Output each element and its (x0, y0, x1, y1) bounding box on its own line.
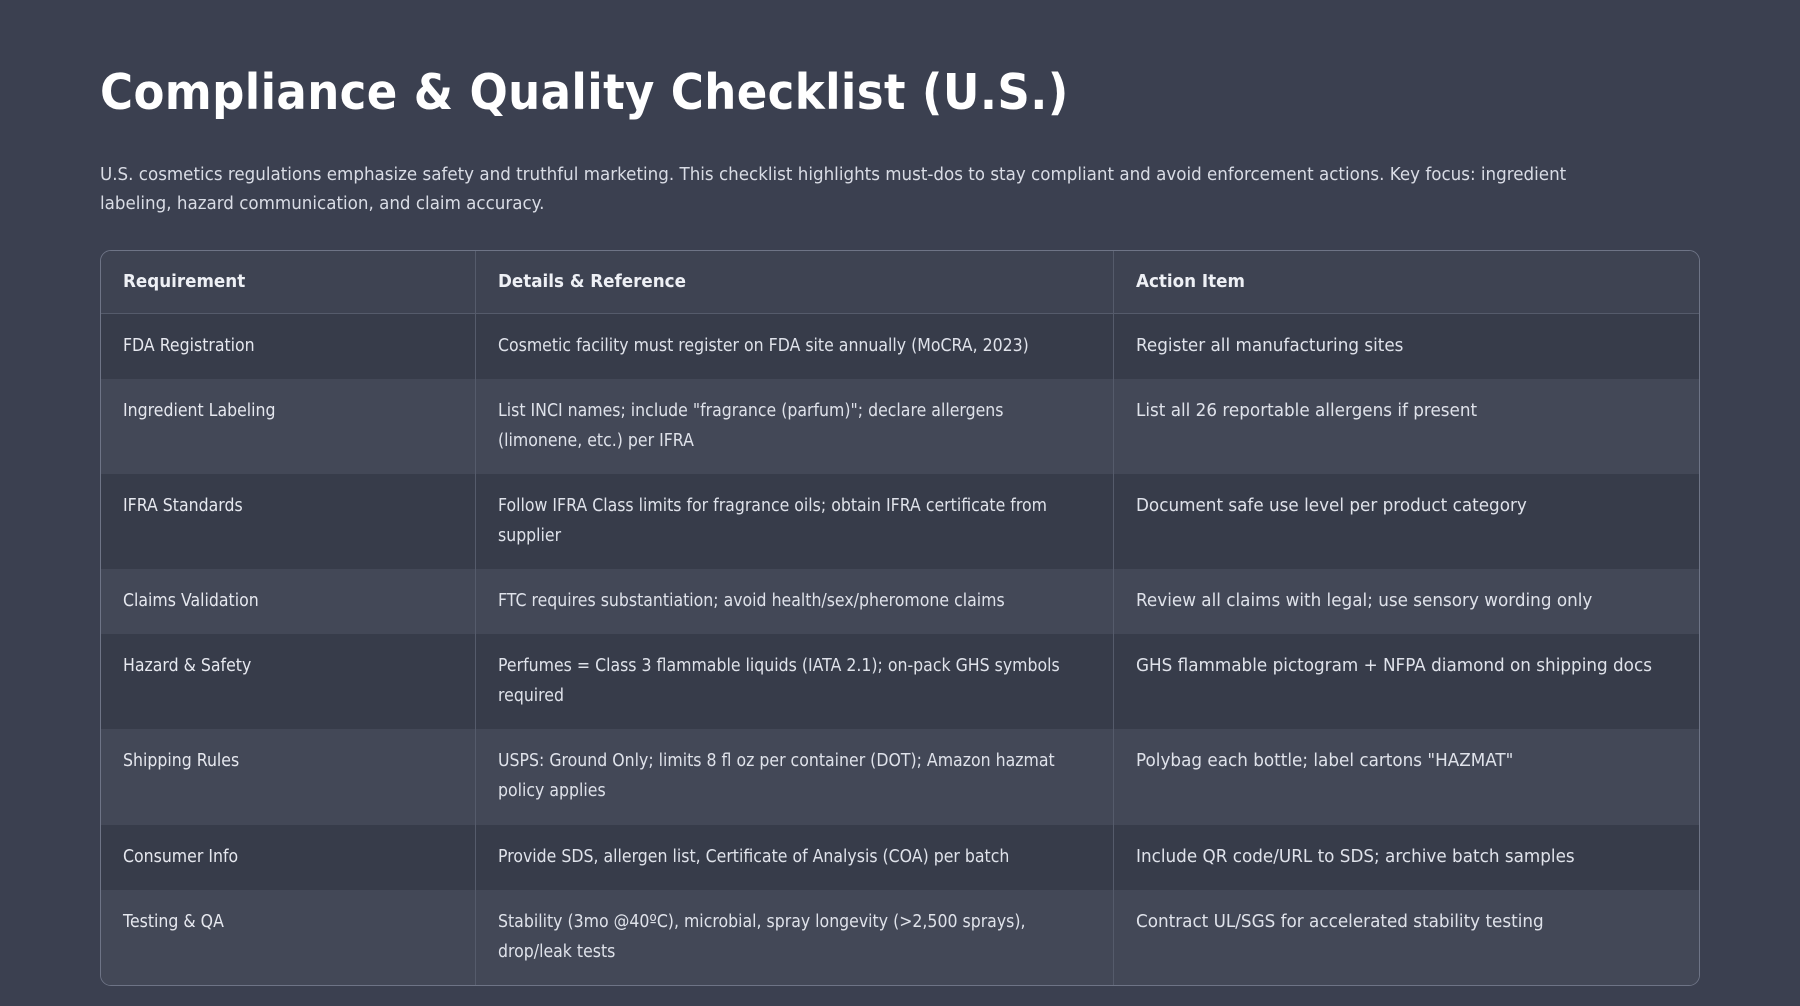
cell-requirement-text: IFRA Standards (123, 491, 453, 521)
cell-details: Provide SDS, allergen list, Certificate … (475, 825, 1113, 890)
cell-details-text: List INCI names; include "fragrance (par… (498, 396, 1091, 456)
cell-action: Contract UL/SGS for accelerated stabilit… (1113, 890, 1700, 985)
cell-action-text: Register all manufacturing sites (1136, 331, 1680, 361)
cell-action-text: Review all claims with legal; use sensor… (1136, 586, 1680, 616)
cell-requirement: IFRA Standards (101, 474, 475, 569)
cell-requirement-text: Ingredient Labeling (123, 396, 453, 426)
cell-details-text: Follow IFRA Class limits for fragrance o… (498, 491, 1091, 551)
cell-requirement: Testing & QA (101, 890, 475, 985)
cell-action-text: Document safe use level per product cate… (1136, 491, 1680, 521)
table-header: Requirement Details & Reference Action I… (101, 251, 1700, 314)
slide-root: Compliance & Quality Checklist (U.S.) U.… (0, 0, 1800, 1006)
cell-action: Document safe use level per product cate… (1113, 474, 1700, 569)
cell-requirement: Consumer Info (101, 825, 475, 890)
slide-content: Compliance & Quality Checklist (U.S.) U.… (100, 66, 1708, 986)
cell-details: Follow IFRA Class limits for fragrance o… (475, 474, 1113, 569)
table-row: Ingredient Labeling List INCI names; inc… (101, 379, 1700, 474)
cell-requirement: FDA Registration (101, 313, 475, 379)
cell-requirement-text: Hazard & Safety (123, 651, 453, 681)
cell-requirement: Claims Validation (101, 569, 475, 634)
cell-details: Perfumes = Class 3 flammable liquids (IA… (475, 634, 1113, 729)
table-row: Shipping Rules USPS: Ground Only; limits… (101, 729, 1700, 824)
table-header-row: Requirement Details & Reference Action I… (101, 251, 1700, 314)
cell-details-text: Provide SDS, allergen list, Certificate … (498, 842, 1091, 872)
cell-details-text: Cosmetic facility must register on FDA s… (498, 331, 1091, 361)
column-header-details-label: Details & Reference (498, 271, 686, 292)
cell-action: List all 26 reportable allergens if pres… (1113, 379, 1700, 474)
cell-action-text: GHS flammable pictogram + NFPA diamond o… (1136, 651, 1680, 681)
cell-action-text: Polybag each bottle; label cartons "HAZM… (1136, 746, 1680, 776)
cell-details-text: FTC requires substantiation; avoid healt… (498, 586, 1091, 616)
cell-requirement-text: Testing & QA (123, 907, 453, 937)
cell-action-text: List all 26 reportable allergens if pres… (1136, 396, 1680, 426)
cell-action: Review all claims with legal; use sensor… (1113, 569, 1700, 634)
cell-details-text: Stability (3mo @40ºC), microbial, spray … (498, 907, 1091, 967)
cell-action: GHS flammable pictogram + NFPA diamond o… (1113, 634, 1700, 729)
cell-action: Include QR code/URL to SDS; archive batc… (1113, 825, 1700, 890)
table-row: Hazard & Safety Perfumes = Class 3 flamm… (101, 634, 1700, 729)
cell-details: Stability (3mo @40ºC), microbial, spray … (475, 890, 1113, 985)
cell-details-text: Perfumes = Class 3 flammable liquids (IA… (498, 651, 1091, 711)
cell-requirement: Hazard & Safety (101, 634, 475, 729)
page-title: Compliance & Quality Checklist (U.S.) (100, 66, 1579, 121)
column-header-requirement: Requirement (101, 251, 475, 314)
table-row: FDA Registration Cosmetic facility must … (101, 313, 1700, 379)
cell-details-text: USPS: Ground Only; limits 8 fl oz per co… (498, 746, 1091, 806)
cell-requirement-text: Shipping Rules (123, 746, 453, 776)
checklist-table-container: Requirement Details & Reference Action I… (100, 250, 1700, 986)
cell-requirement: Ingredient Labeling (101, 379, 475, 474)
compliance-checklist-table: Requirement Details & Reference Action I… (101, 251, 1700, 985)
column-header-action-label: Action Item (1136, 271, 1245, 292)
column-header-requirement-label: Requirement (123, 271, 245, 292)
cell-requirement-text: Claims Validation (123, 586, 453, 616)
cell-details: Cosmetic facility must register on FDA s… (475, 313, 1113, 379)
cell-requirement-text: Consumer Info (123, 842, 453, 872)
table-row: Testing & QA Stability (3mo @40ºC), micr… (101, 890, 1700, 985)
cell-requirement: Shipping Rules (101, 729, 475, 824)
cell-action-text: Include QR code/URL to SDS; archive batc… (1136, 842, 1680, 872)
table-row: Consumer Info Provide SDS, allergen list… (101, 825, 1700, 890)
cell-action: Polybag each bottle; label cartons "HAZM… (1113, 729, 1700, 824)
cell-details: List INCI names; include "fragrance (par… (475, 379, 1113, 474)
column-header-action: Action Item (1113, 251, 1700, 314)
cell-details: USPS: Ground Only; limits 8 fl oz per co… (475, 729, 1113, 824)
cell-details: FTC requires substantiation; avoid healt… (475, 569, 1113, 634)
cell-action-text: Contract UL/SGS for accelerated stabilit… (1136, 907, 1680, 937)
intro-paragraph: U.S. cosmetics regulations emphasize saf… (100, 161, 1628, 219)
column-header-details: Details & Reference (475, 251, 1113, 314)
table-row: IFRA Standards Follow IFRA Class limits … (101, 474, 1700, 569)
cell-requirement-text: FDA Registration (123, 331, 453, 361)
table-body: FDA Registration Cosmetic facility must … (101, 313, 1700, 985)
table-row: Claims Validation FTC requires substanti… (101, 569, 1700, 634)
cell-action: Register all manufacturing sites (1113, 313, 1700, 379)
